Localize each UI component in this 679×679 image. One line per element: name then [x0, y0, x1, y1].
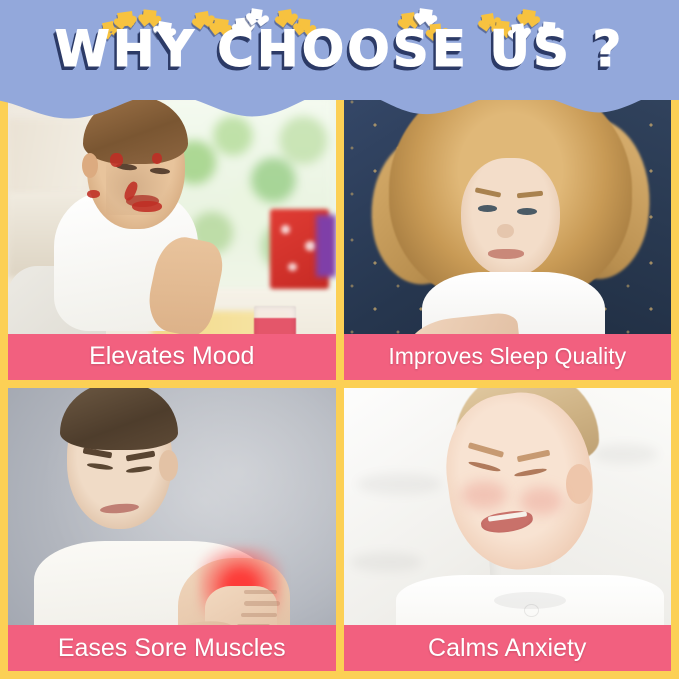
caption-bar-eases-sore-muscles: Eases Sore Muscles — [8, 625, 336, 671]
caption-text: Improves Sleep Quality — [388, 343, 626, 370]
benefit-card-elevates-mood[interactable]: Elevates Mood — [8, 96, 336, 380]
caption-bar-improves-sleep-quality: Improves Sleep Quality — [344, 334, 672, 380]
toddler-shirt-button — [524, 604, 539, 617]
purple-toy-shape — [316, 215, 336, 277]
page-title: WHY CHOOSE US ? — [55, 24, 625, 74]
caption-bar-calms-anxiety: Calms Anxiety — [344, 625, 672, 671]
benefits-grid: Elevates Mood — [0, 88, 679, 679]
caption-bar-elevates-mood: Elevates Mood — [8, 334, 336, 380]
toddler-ear-shape — [566, 464, 592, 504]
benefit-card-calms-anxiety[interactable]: Calms Anxiety — [344, 388, 672, 672]
heart-icon — [250, 8, 262, 20]
boy-hair-shape — [60, 388, 178, 450]
page-title-wrap: WHY CHOOSE US ? — [0, 24, 679, 74]
girl-left-eye — [478, 205, 498, 212]
child-ear-shape — [82, 153, 98, 179]
benefit-card-eases-sore-muscles[interactable]: Eases Sore Muscles — [8, 388, 336, 672]
benefit-card-improves-sleep-quality[interactable]: Improves Sleep Quality — [344, 96, 672, 380]
caption-text: Calms Anxiety — [428, 634, 586, 663]
girl-face-shape — [461, 158, 559, 277]
girl-frowning-mouth — [488, 249, 524, 259]
why-choose-us-poster: Elevates Mood — [0, 0, 679, 679]
girl-right-eye — [517, 208, 537, 215]
girl-nose — [497, 224, 513, 238]
poster-header: WHY CHOOSE US ? — [0, 0, 679, 100]
caption-text: Eases Sore Muscles — [58, 634, 286, 663]
boy-ear-shape — [159, 450, 179, 481]
caption-text: Elevates Mood — [89, 342, 254, 371]
